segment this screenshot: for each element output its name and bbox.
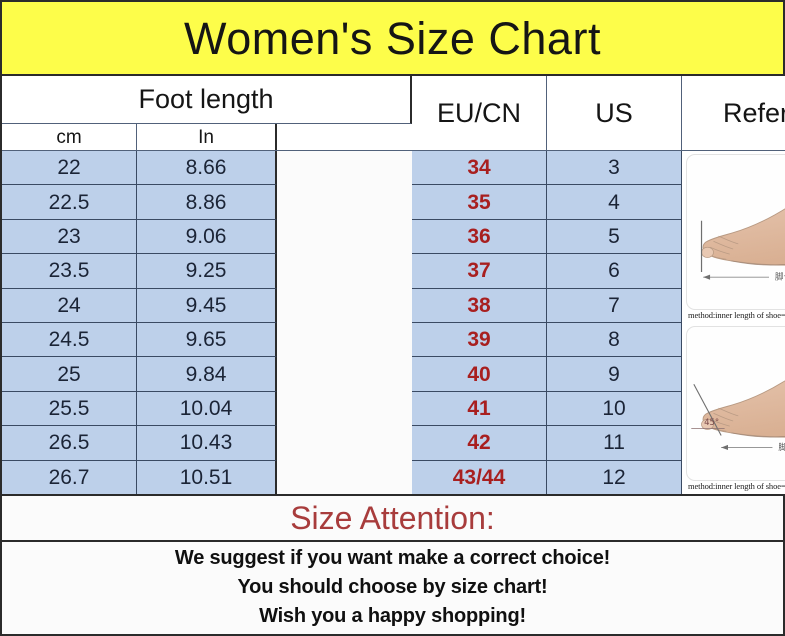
cell-cm: 23.5 <box>2 254 137 288</box>
header-us-label: US <box>595 100 633 127</box>
cell-us: 4 <box>547 185 682 219</box>
cell-eu-cn: 35 <box>412 185 547 219</box>
angle-label-45: 45° <box>704 418 719 428</box>
column-group-foot-length: Foot length cm In 22 22.5 23 23.5 24 24.… <box>2 76 412 494</box>
cell-in: 9.45 <box>137 289 277 323</box>
cell-us: 3 <box>547 151 682 185</box>
cell-in: 10.04 <box>137 392 277 426</box>
reference-caption-1: method:inner length of shoe=length of fo… <box>686 310 785 323</box>
header-in-label: In <box>198 128 214 147</box>
cell-cm: 22 <box>2 151 137 185</box>
column-cm: 22 22.5 23 23.5 24 24.5 25 25.5 26.5 26.… <box>2 151 137 494</box>
cell-cm: 24.5 <box>2 323 137 357</box>
cell-us: 7 <box>547 289 682 323</box>
size-chart-image: Women's Size Chart Foot length cm In 22 … <box>0 0 785 636</box>
cell-eu-cn: 36 <box>412 220 547 254</box>
size-attention-band: Size Attention: <box>2 496 783 542</box>
column-us: US 3 4 5 6 7 8 9 10 11 12 <box>547 76 682 494</box>
cell-in: 10.43 <box>137 426 277 460</box>
column-reference: Reference <box>682 76 785 494</box>
reference-caption-2: method:inner length of shoe=length of fo… <box>686 481 785 494</box>
header-reference-label: Reference <box>723 100 785 127</box>
svg-text:脚长: 脚长 <box>775 271 785 283</box>
foot-side-view-icon: 脚长 <box>687 155 785 309</box>
cell-cm: 26.7 <box>2 461 137 494</box>
foot-measure-illustration-2: 45° 脚长 <box>686 326 785 482</box>
cell-us: 5 <box>547 220 682 254</box>
cell-in: 8.86 <box>137 185 277 219</box>
reference-diagram-2: 45° 脚长 method:inner length of shoe=lengt… <box>682 323 785 495</box>
size-attention-notes: We suggest if you want make a correct ch… <box>2 542 783 634</box>
reference-diagram-1: 脚长 method:inner length of shoe=length of… <box>682 151 785 323</box>
foot-side-view-angle-icon: 45° 脚长 <box>687 327 785 481</box>
size-attention-heading: Size Attention: <box>290 502 495 534</box>
cell-eu-cn: 43/44 <box>412 461 547 494</box>
cell-eu-cn: 37 <box>412 254 547 288</box>
cell-eu-cn: 38 <box>412 289 547 323</box>
column-in: 8.66 8.86 9.06 9.25 9.45 9.65 9.84 10.04… <box>137 151 277 494</box>
cell-cm: 25.5 <box>2 392 137 426</box>
header-foot-length: Foot length <box>2 76 412 124</box>
svg-text:脚长: 脚长 <box>778 441 785 453</box>
column-eu-cn: EU/CN 34 35 36 37 38 39 40 41 42 43/44 <box>412 76 547 494</box>
reference-body: 脚长 method:inner length of shoe=length of… <box>682 151 785 494</box>
header-in: In <box>137 124 277 150</box>
title-banner: Women's Size Chart <box>2 2 783 76</box>
page-title: Women's Size Chart <box>184 16 601 61</box>
cell-eu-cn: 42 <box>412 426 547 460</box>
note-line: We suggest if you want make a correct ch… <box>175 544 610 573</box>
cell-in: 8.66 <box>137 151 277 185</box>
cell-us: 6 <box>547 254 682 288</box>
header-reference: Reference <box>682 76 785 151</box>
foot-measure-illustration-1: 脚长 <box>686 154 785 310</box>
cell-cm: 22.5 <box>2 185 137 219</box>
header-foot-length-label: Foot length <box>138 86 273 113</box>
cell-eu-cn: 41 <box>412 392 547 426</box>
cell-cm: 26.5 <box>2 426 137 460</box>
note-line: Wish you a happy shopping! <box>259 602 526 631</box>
header-us: US <box>547 76 682 151</box>
cell-eu-cn: 40 <box>412 357 547 391</box>
header-eu-cn: EU/CN <box>412 76 547 151</box>
header-cm-label: cm <box>56 128 81 147</box>
us-body: 3 4 5 6 7 8 9 10 11 12 <box>547 151 682 494</box>
cell-in: 9.25 <box>137 254 277 288</box>
cell-us: 12 <box>547 461 682 494</box>
eu-cn-body: 34 35 36 37 38 39 40 41 42 43/44 <box>412 151 547 494</box>
cell-in: 9.84 <box>137 357 277 391</box>
cell-cm: 24 <box>2 289 137 323</box>
note-line: You should choose by size chart! <box>238 573 548 602</box>
cell-eu-cn: 39 <box>412 323 547 357</box>
cell-us: 8 <box>547 323 682 357</box>
cell-in: 9.06 <box>137 220 277 254</box>
cell-us: 11 <box>547 426 682 460</box>
size-table: Foot length cm In 22 22.5 23 23.5 24 24.… <box>2 76 783 496</box>
header-cm: cm <box>2 124 137 150</box>
cell-cm: 25 <box>2 357 137 391</box>
foot-length-body: 22 22.5 23 23.5 24 24.5 25 25.5 26.5 26.… <box>2 151 412 494</box>
subheader-row: cm In <box>2 124 412 151</box>
cell-cm: 23 <box>2 220 137 254</box>
cell-in: 9.65 <box>137 323 277 357</box>
cell-us: 10 <box>547 392 682 426</box>
cell-eu-cn: 34 <box>412 151 547 185</box>
cell-us: 9 <box>547 357 682 391</box>
cell-in: 10.51 <box>137 461 277 494</box>
header-eu-cn-label: EU/CN <box>437 100 521 127</box>
